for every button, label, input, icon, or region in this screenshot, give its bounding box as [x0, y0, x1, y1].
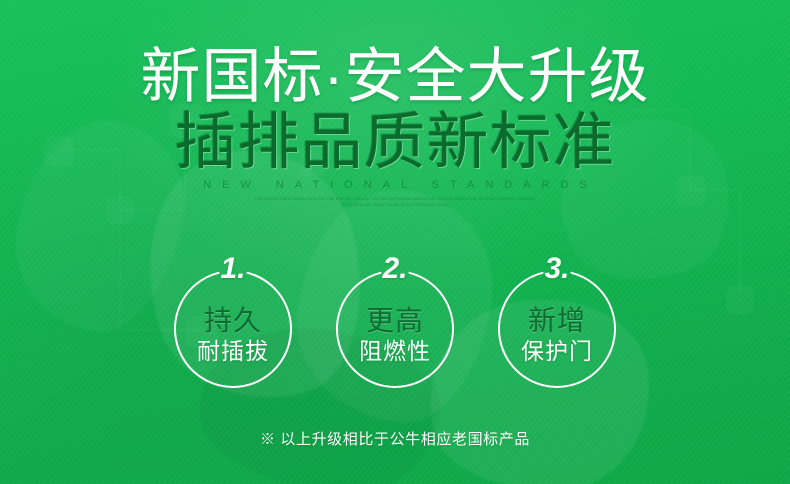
feature-circle-3: 3. 新增 保护门: [496, 268, 618, 390]
page-title: 新国标·安全大升级: [0, 44, 790, 110]
feature-subtitle: 阻燃性: [359, 338, 431, 365]
headline-block: 新国标·安全大升级 插排品质新标准 NEW NATIONAL STANDARDS…: [0, 44, 790, 208]
feature-number: 3.: [544, 254, 569, 284]
feature-number: 1.: [220, 254, 245, 284]
feature-title: 更高: [366, 305, 424, 337]
feature-subtitle: 耐插拔: [197, 338, 269, 365]
microcopy-text: DVD NAVIGATION IS INSTALLED IN THE CAR F…: [245, 196, 545, 208]
feature-title: 新增: [528, 305, 586, 337]
feature-title: 持久: [204, 305, 262, 337]
feature-circles: 1. 持久 耐插拔 2. 更高 阻燃性 3. 新增 保护门: [0, 268, 790, 390]
feature-number: 2.: [382, 254, 407, 284]
footnote-text: ※ 以上升级相比于公牛相应老国标产品: [0, 430, 790, 450]
english-subtitle: NEW NATIONAL STANDARDS: [0, 179, 790, 191]
promo-banner: 新国标·安全大升级 插排品质新标准 NEW NATIONAL STANDARDS…: [0, 0, 790, 484]
feature-circle-2: 2. 更高 阻燃性: [334, 268, 456, 390]
page-subtitle: 插排品质新标准: [0, 108, 790, 178]
feature-subtitle: 保护门: [521, 338, 593, 365]
feature-circle-1: 1. 持久 耐插拔: [172, 268, 294, 390]
